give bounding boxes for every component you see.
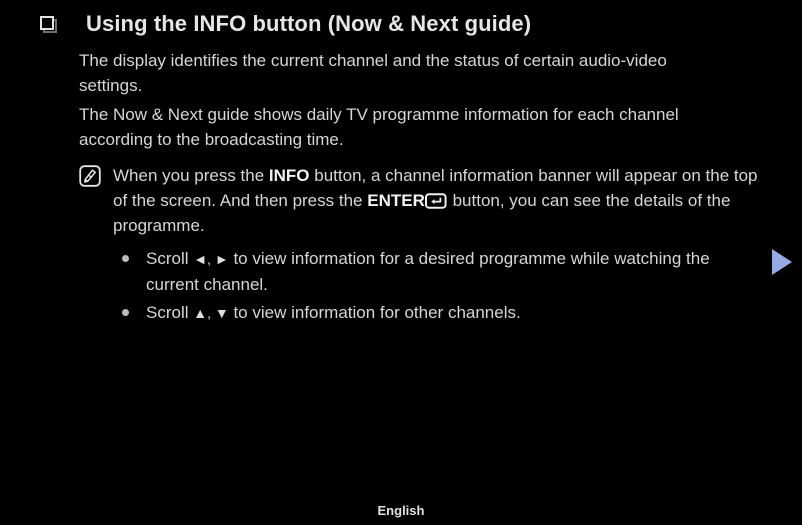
note-block: When you press the INFO button, a channe… <box>79 163 769 238</box>
bullet-list: Scroll ◄, ► to view information for a de… <box>122 246 769 326</box>
info-button-label: INFO <box>269 166 310 185</box>
note-text: When you press the INFO button, a channe… <box>113 163 763 238</box>
bullet-text-after: to view information for a desired progra… <box>146 249 710 294</box>
note-pencil-icon <box>79 165 101 187</box>
left-right-arrow-glyphs: ◄, ► <box>193 251 229 267</box>
bullet-text-before: Scroll <box>146 249 193 268</box>
content-area: The display identifies the current chann… <box>79 48 769 329</box>
bullet-text-after: to view information for other channels. <box>229 303 521 322</box>
note-text-1: When you press the <box>113 166 269 185</box>
page-title: Using the INFO button (Now & Next guide) <box>86 11 531 37</box>
bullet-dot-icon <box>122 255 129 262</box>
square-outline-icon <box>40 16 56 32</box>
bullet-text: Scroll ▲, ▼ to view information for othe… <box>146 300 521 326</box>
enter-return-key-icon <box>425 191 447 207</box>
footer-language-label: English <box>0 503 802 518</box>
enter-button-label: ENTER <box>367 191 425 210</box>
paragraph-display-info: The display identifies the current chann… <box>79 48 734 98</box>
bullet-text-before: Scroll <box>146 303 193 322</box>
bullet-dot-icon <box>122 309 129 316</box>
list-item: Scroll ▲, ▼ to view information for othe… <box>122 300 769 326</box>
up-down-arrow-glyphs: ▲, ▼ <box>193 305 229 321</box>
paragraph-guide-info: The Now & Next guide shows daily TV prog… <box>79 102 734 152</box>
bullet-text: Scroll ◄, ► to view information for a de… <box>146 246 756 297</box>
page-header: Using the INFO button (Now & Next guide) <box>0 6 802 42</box>
list-item: Scroll ◄, ► to view information for a de… <box>122 246 769 297</box>
next-page-arrow-icon[interactable] <box>772 249 792 275</box>
